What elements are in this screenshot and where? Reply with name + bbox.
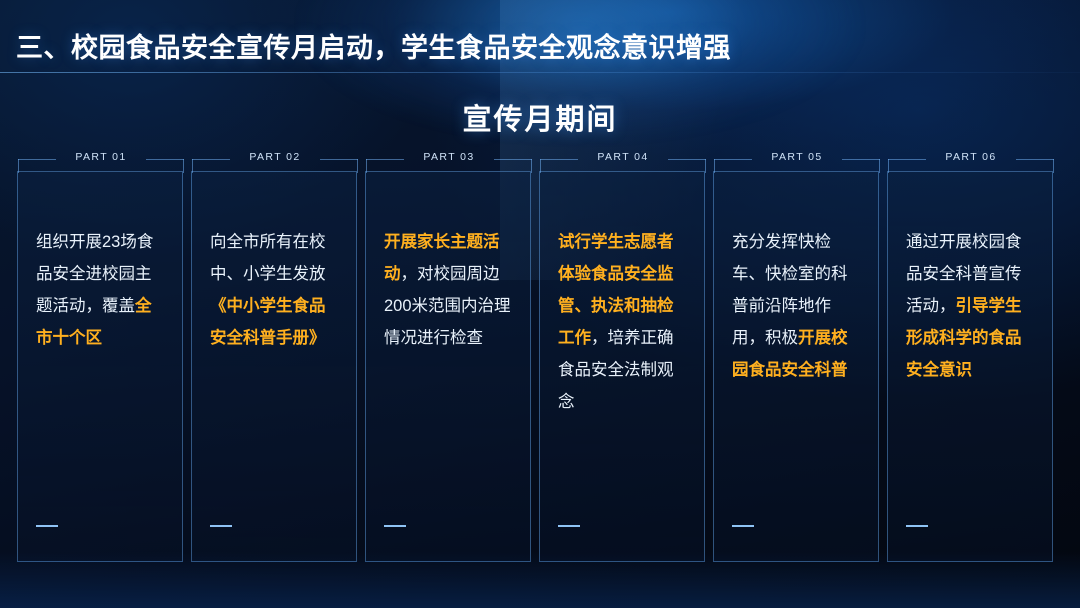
info-card: PART 02向全市所有在校中、小学生发放《中小学生食品安全科普手册》 xyxy=(191,171,357,562)
info-card: PART 04试行学生志愿者体验食品安全监管、执法和抽检工作，培养正确食品安全法… xyxy=(539,171,705,562)
highlighted-text: 《中小学生食品安全科普手册》 xyxy=(210,297,326,347)
card-body: 向全市所有在校中、小学生发放《中小学生食品安全科普手册》 xyxy=(210,226,340,354)
slide-root: 三、校园食品安全宣传月启动，学生食品安全观念意识增强 宣传月期间 PART 01… xyxy=(0,0,1080,608)
card-body: 开展家长主题活动，对校园周边200米范围内治理情况进行检查 xyxy=(384,226,514,354)
part-header: PART 03 xyxy=(366,153,532,172)
part-header: PART 05 xyxy=(714,153,880,172)
part-label: PART 01 xyxy=(18,151,184,163)
part-label: PART 06 xyxy=(888,151,1054,163)
cards-row: PART 01组织开展23场食品安全进校园主题活动，覆盖全市十个区PART 02… xyxy=(17,152,1063,552)
card-accent-dash xyxy=(732,525,754,527)
card-accent-dash xyxy=(384,525,406,527)
card-body: 试行学生志愿者体验食品安全监管、执法和抽检工作，培养正确食品安全法制观念 xyxy=(558,226,688,418)
part-label: PART 03 xyxy=(366,151,532,163)
info-card: PART 06通过开展校园食品安全科普宣传活动，引导学生形成科学的食品安全意识 xyxy=(887,171,1053,562)
info-card: PART 03开展家长主题活动，对校园周边200米范围内治理情况进行检查 xyxy=(365,171,531,562)
card-accent-dash xyxy=(558,525,580,527)
card-accent-dash xyxy=(210,525,232,527)
part-label: PART 05 xyxy=(714,151,880,163)
slide-header: 三、校园食品安全宣传月启动，学生食品安全观念意识增强 xyxy=(0,0,1080,74)
part-header: PART 04 xyxy=(540,153,706,172)
page-title: 三、校园食品安全宣传月启动，学生食品安全观念意识增强 xyxy=(16,26,731,65)
info-card: PART 01组织开展23场食品安全进校园主题活动，覆盖全市十个区 xyxy=(17,171,183,562)
part-header: PART 02 xyxy=(192,153,358,172)
card-accent-dash xyxy=(906,525,928,527)
body-text: 向全市所有在校中、小学生发放 xyxy=(210,233,326,283)
body-text: ，对校园周边200米范围内治理情况进行检查 xyxy=(384,265,511,347)
part-header: PART 01 xyxy=(18,153,184,172)
part-label: PART 04 xyxy=(540,151,706,163)
info-card: PART 05充分发挥快检车、快检室的科普前沿阵地作用，积极开展校园食品安全科普 xyxy=(713,171,879,562)
card-body: 组织开展23场食品安全进校园主题活动，覆盖全市十个区 xyxy=(36,226,166,354)
card-accent-dash xyxy=(36,525,58,527)
card-body: 通过开展校园食品安全科普宣传活动，引导学生形成科学的食品安全意识 xyxy=(906,226,1036,386)
subtitle: 宣传月期间 xyxy=(0,96,1080,138)
part-header: PART 06 xyxy=(888,153,1054,172)
card-body: 充分发挥快检车、快检室的科普前沿阵地作用，积极开展校园食品安全科普 xyxy=(732,226,862,386)
header-divider xyxy=(0,72,1080,73)
part-label: PART 02 xyxy=(192,151,358,163)
